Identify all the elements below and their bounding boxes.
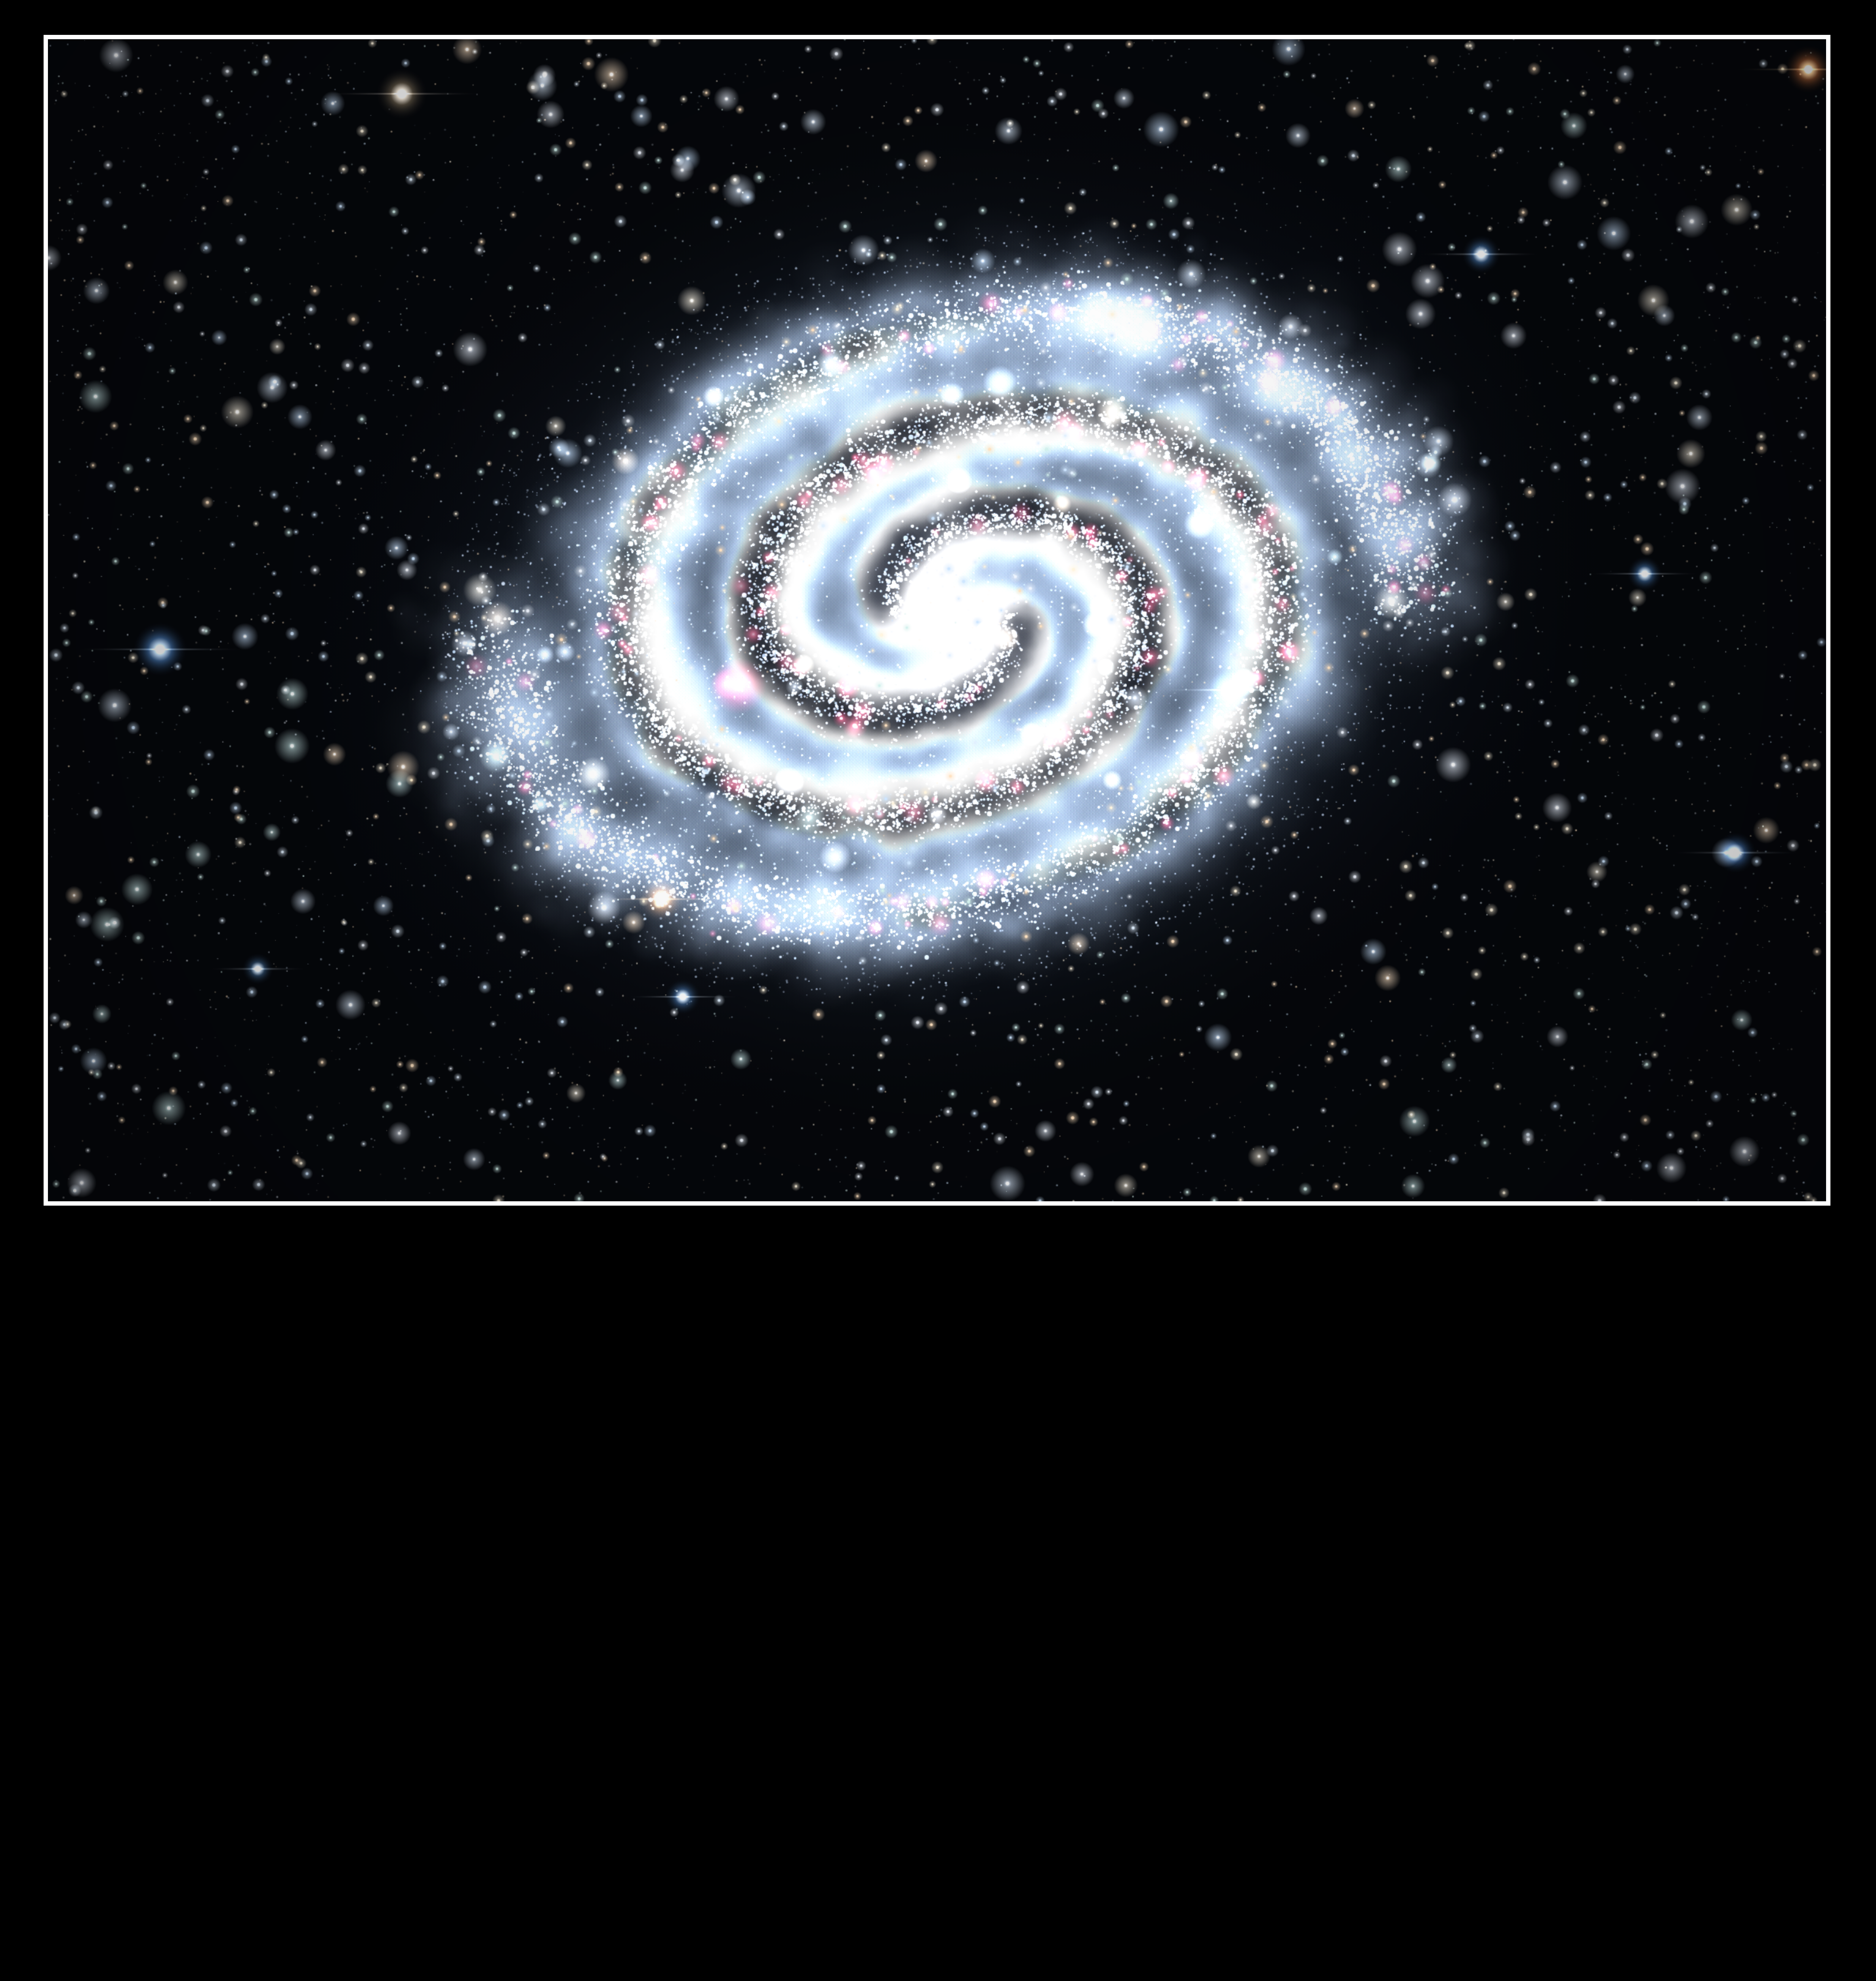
photo-frame [44, 35, 1830, 1206]
galaxy-sky-canvas [48, 39, 1826, 1201]
astronomical-photograph [48, 39, 1826, 1201]
caption-bar: SUBARU TELESCOPE National Astronomical O… [0, 1206, 1876, 1422]
poster-root: SUBARU TELESCOPE National Astronomical O… [0, 0, 1876, 1422]
